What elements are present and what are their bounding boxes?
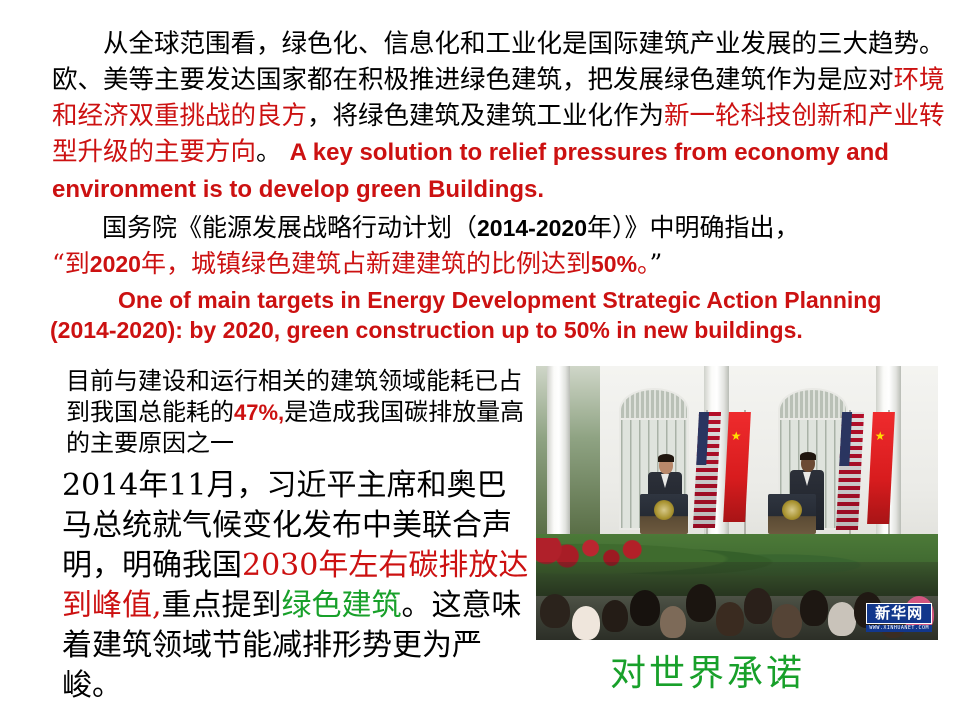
watermark-url: WWW.XINHUANET.COM <box>866 625 932 632</box>
photo-audience-head <box>744 588 772 624</box>
energy-plan-suffix: 年）》中明确指出， <box>587 213 800 242</box>
photo-audience-head <box>630 590 660 626</box>
photo-audience-head <box>602 600 628 632</box>
photo-audience-head <box>660 606 686 638</box>
consumption-percentage: 47%, <box>234 400 284 425</box>
global-trends-text-part3: ，将绿色建筑及建筑工业化作为 <box>307 101 664 131</box>
photo-xi-obama-press-conference: 新华网 WWW.XINHUANET.COM <box>536 366 938 640</box>
photo-podium-right <box>768 494 816 534</box>
photo-presidential-seal-left <box>654 500 674 520</box>
paragraph-global-trends: 从全球范围看，绿色化、信息化和工业化是国际建筑产业发展的三大趋势。欧、美等主要发… <box>52 26 952 208</box>
quote-target-percent: 50% <box>591 251 637 277</box>
photo-audience-head <box>540 594 570 628</box>
photo-speaker-obama-shirt <box>803 472 811 486</box>
global-trends-text-part5: 。 <box>256 137 282 167</box>
statement-highlight-green-building: 绿色建筑 <box>282 588 402 623</box>
global-trends-text-part1: 从全球范围看，绿色化、信息化和工业化是国际建筑产业发展的三大趋势。欧、美等主要发… <box>52 29 945 95</box>
photo-audience-head <box>828 602 856 636</box>
paragraph-joint-climate-statement: 2014年11月，习近平主席和奥巴马总统就气候变化发布中美联合声明，明确我国20… <box>62 466 532 706</box>
quote-middle: 年，城镇绿色建筑占新建建筑的比例达到 <box>141 249 591 278</box>
photo-presidential-seal-right <box>782 500 802 520</box>
photo-podium-left <box>640 494 688 534</box>
quote-close-mark: ” <box>650 249 663 278</box>
quote-prefix: 到 <box>65 249 90 278</box>
paragraph-energy-plan-english: One of main targets in Energy Developmen… <box>50 285 950 345</box>
paragraph-energy-plan: 国务院《能源发展战略行动计划（2014-2020年）》中明确指出， “到2020… <box>52 210 952 282</box>
photo-speaker-obama-hair <box>800 452 816 460</box>
caption-commitment-to-world: 对世界承诺 <box>610 652 805 696</box>
photo-audience-head <box>800 590 828 626</box>
photo-column-1 <box>547 366 570 542</box>
energy-plan-prefix: 国务院《能源发展战略行动计划（ <box>52 213 477 242</box>
slide-canvas: 从全球范围看，绿色化、信息化和工业化是国际建筑产业发展的三大趋势。欧、美等主要发… <box>0 0 960 720</box>
photo-audience-head <box>716 602 744 636</box>
photo-audience-head <box>772 604 802 638</box>
energy-english-line-2: (2014-2020): by 2020, green construction… <box>50 315 950 345</box>
energy-english-line-1: One of main targets in Energy Developmen… <box>50 285 950 315</box>
photo-speaker-xi-hair <box>658 454 674 462</box>
energy-plan-quote: “到2020年，城镇绿色建筑占新建建筑的比例达到50%。” <box>52 249 662 278</box>
photo-audience-head <box>686 584 716 622</box>
photo-watermark: 新华网 WWW.XINHUANET.COM <box>866 603 932 632</box>
paragraph-building-energy-consumption: 目前与建设和运行相关的建筑领域能耗已占到我国总能耗的47%,是造成我国碳排放量高… <box>66 366 526 459</box>
energy-plan-year-range: 2014-2020 <box>477 215 587 241</box>
quote-open-mark: “ <box>52 249 65 278</box>
quote-target-year: 2020 <box>90 251 141 277</box>
photo-audience-head <box>572 606 600 640</box>
photo-speaker-xi-shirt <box>661 474 669 488</box>
watermark-label: 新华网 <box>866 603 932 624</box>
statement-text-part3: 重点提到 <box>162 588 282 623</box>
quote-period: 。 <box>637 249 650 278</box>
